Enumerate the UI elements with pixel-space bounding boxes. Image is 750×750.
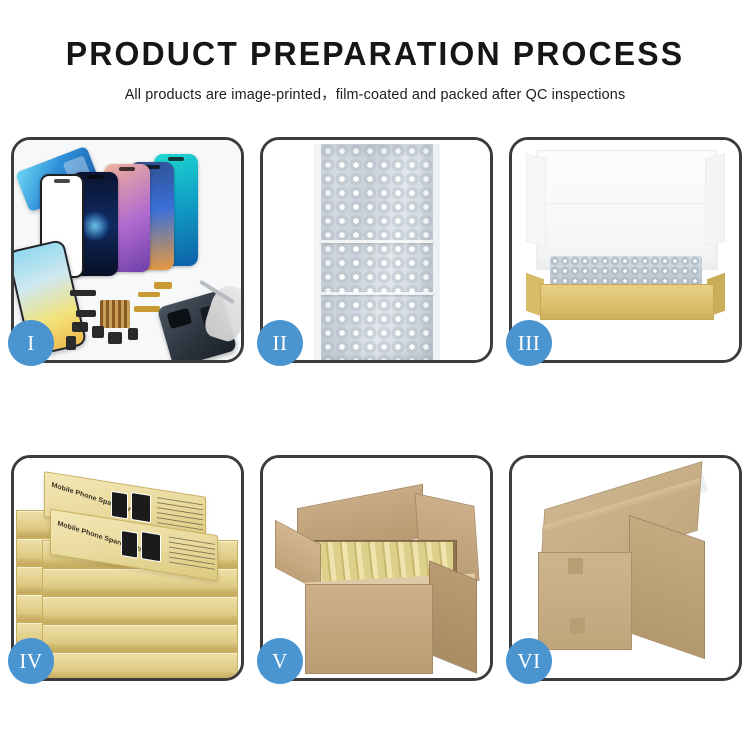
kraft-box-front [540,284,714,320]
bubble-wrap-sleeve [314,144,440,360]
process-step-panel-1: I [11,137,244,363]
box-side-flap-right [705,154,725,247]
process-step-panel-4: Mobile Phone Spare Parts Mobile Phone Sp… [11,455,244,681]
carton-front-panel [305,584,433,674]
process-step-panel-2: II [260,137,493,363]
step-badge-4: IV [8,638,54,684]
step-badge-1: I [8,320,54,366]
box-edge [43,672,237,678]
box-label-spec-lines [157,497,203,530]
speaker-part [108,332,122,344]
process-step-panel-6: VI [509,455,742,681]
step-badge-3: III [506,320,552,366]
process-step-panel-5: V [260,455,493,681]
connector-part [76,310,96,317]
box-edge [43,616,237,623]
flex-cable-part [138,292,160,297]
carton-side-panel [429,560,477,673]
box-side-flap-left [526,154,546,247]
phone-notch-icon [168,157,184,161]
box-edge [43,588,237,595]
phone-notch-icon [54,179,70,183]
button-part [128,328,138,340]
phone-notch-icon [87,175,103,179]
earpiece-mesh-part [70,290,96,296]
white-inner-lid [536,150,718,270]
spare-parts-group [68,280,241,360]
process-step-panel-3: III [509,137,742,363]
box-label-spec-lines [169,537,215,570]
phone-notch-icon [119,167,135,171]
kraft-box [42,596,238,624]
box-label-screen-image [131,492,151,523]
camera-module-part [92,326,104,338]
bubble-wrapped-product [550,256,702,286]
wallpaper-glow-icon [80,211,110,241]
page-header: PRODUCT PREPARATION PROCESS All products… [0,0,750,104]
step-badge-6: VI [506,638,552,684]
flex-cable-part [134,306,160,312]
kraft-box [42,624,238,652]
kraft-box-stack-right: Mobile Phone Spare Parts Mobile Phone Sp… [42,482,238,672]
page-subtitle: All products are image-printed，film-coat… [0,83,750,104]
box-edge [43,644,237,651]
box-label-screen-image [111,491,128,520]
bracket-part [72,322,88,332]
step-badge-5: V [257,638,303,684]
process-steps-grid: I II III [11,137,739,681]
box-label-screen-image [121,530,138,559]
chip-array-part [100,300,130,328]
kraft-box [42,652,238,678]
bubble-wrap-seam [321,292,433,295]
sim-tray-part [66,336,76,350]
carton-hand-hole [570,618,585,634]
page-title: PRODUCT PREPARATION PROCESS [11,34,739,74]
box-label-screen-image [141,531,161,562]
bubble-wrap-seam [321,240,433,243]
step-badge-2: II [257,320,303,366]
flex-cable-part [154,282,172,289]
carton-front-panel [538,552,632,650]
carton-hand-hole [568,558,583,574]
